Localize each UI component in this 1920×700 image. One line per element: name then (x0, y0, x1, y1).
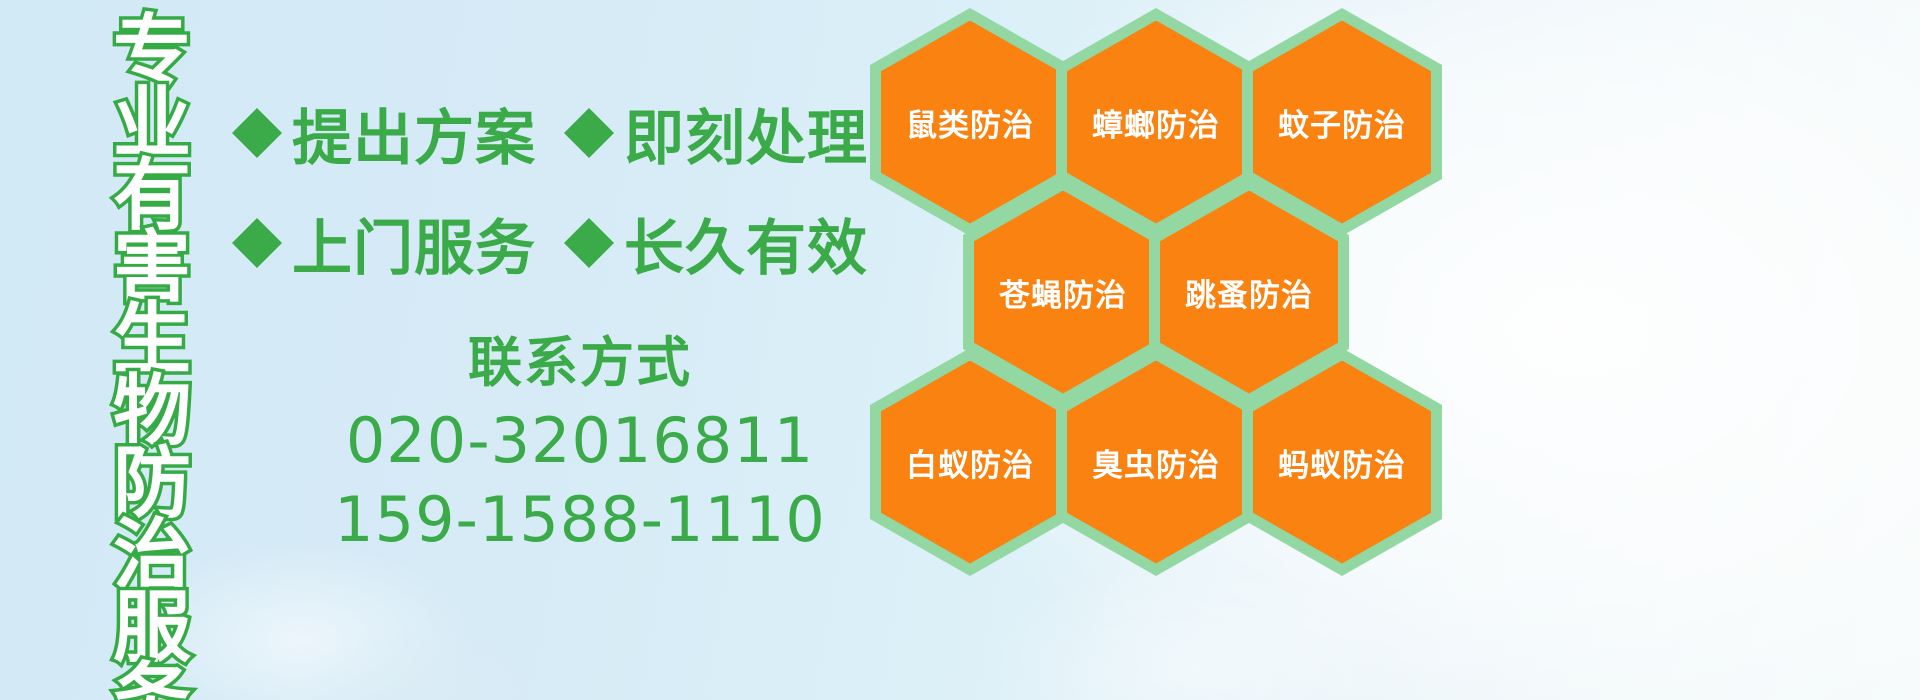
headline-char-1: 业 (113, 86, 191, 158)
contact-block: 联系方式 020-32016811 159-1588-1110 (300, 318, 860, 560)
hex-label: 臭虫防治 (1092, 440, 1220, 485)
headline-char-9: 务 (113, 662, 191, 700)
headline-char-6: 防 (113, 446, 191, 518)
headline-char-4: 生 (113, 302, 191, 374)
hex-label: 跳蚤防治 (1185, 270, 1313, 315)
background-glow-3 (300, 620, 560, 700)
vertical-headline: 专 业 有 害 生 物 防 治 服 务 (104, 14, 200, 700)
bullet-item-long-lasting: 长久有效 (564, 200, 868, 287)
headline-char-5: 物 (113, 374, 191, 446)
hex-inner: 蟑螂防治 (1067, 21, 1245, 224)
hex-label: 蟑螂防治 (1092, 100, 1220, 145)
hex-inner: 臭虫防治 (1067, 361, 1245, 564)
bullet-item-immediate-handling: 即刻处理 (564, 90, 868, 177)
service-hexagon-grid: 鼠类防治 蟑螂防治 蚊子防治 苍蝇防治 跳蚤防治 白蚁防治 (862, 0, 1920, 700)
headline-char-7: 治 (113, 518, 191, 590)
feature-bullet-list: 提出方案 即刻处理 上门服务 长久有效 (232, 78, 872, 298)
headline-char-0: 专 (113, 14, 191, 86)
bullet-item-onsite-service: 上门服务 (232, 200, 536, 287)
hex-inner: 鼠类防治 (881, 21, 1059, 224)
hex-label: 鼠类防治 (906, 100, 1034, 145)
bullet-label: 即刻处理 (624, 90, 868, 177)
bullet-item-propose-plan: 提出方案 (232, 90, 536, 177)
hex-inner: 蚂蚁防治 (1253, 361, 1431, 564)
headline-char-3: 害 (113, 230, 191, 302)
hex-label: 蚊子防治 (1278, 100, 1406, 145)
bullet-label: 上门服务 (292, 200, 536, 287)
bullet-row-1: 提出方案 即刻处理 (232, 78, 872, 188)
phone-number-landline[interactable]: 020-32016811 (300, 401, 860, 480)
contact-heading: 联系方式 (300, 318, 860, 397)
bullet-label: 长久有效 (624, 200, 868, 287)
hex-inner: 白蚁防治 (881, 361, 1059, 564)
hex-label: 蚂蚁防治 (1278, 440, 1406, 485)
promo-banner: 专 业 有 害 生 物 防 治 服 务 提出方案 即刻处理 上门服务 (0, 0, 1920, 700)
bullet-row-2: 上门服务 长久有效 (232, 188, 872, 298)
hex-inner: 蚊子防治 (1253, 21, 1431, 224)
diamond-bullet-icon (564, 193, 614, 243)
diamond-bullet-icon (232, 193, 282, 243)
diamond-bullet-icon (564, 83, 614, 133)
headline-char-8: 服 (113, 590, 191, 662)
hex-inner: 苍蝇防治 (974, 191, 1152, 394)
hex-label: 白蚁防治 (906, 440, 1034, 485)
phone-number-mobile[interactable]: 159-1588-1110 (300, 480, 860, 559)
diamond-bullet-icon (232, 83, 282, 133)
headline-char-2: 有 (113, 158, 191, 230)
bullet-label: 提出方案 (292, 90, 536, 177)
hex-inner: 跳蚤防治 (1160, 191, 1338, 394)
hex-label: 苍蝇防治 (999, 270, 1127, 315)
